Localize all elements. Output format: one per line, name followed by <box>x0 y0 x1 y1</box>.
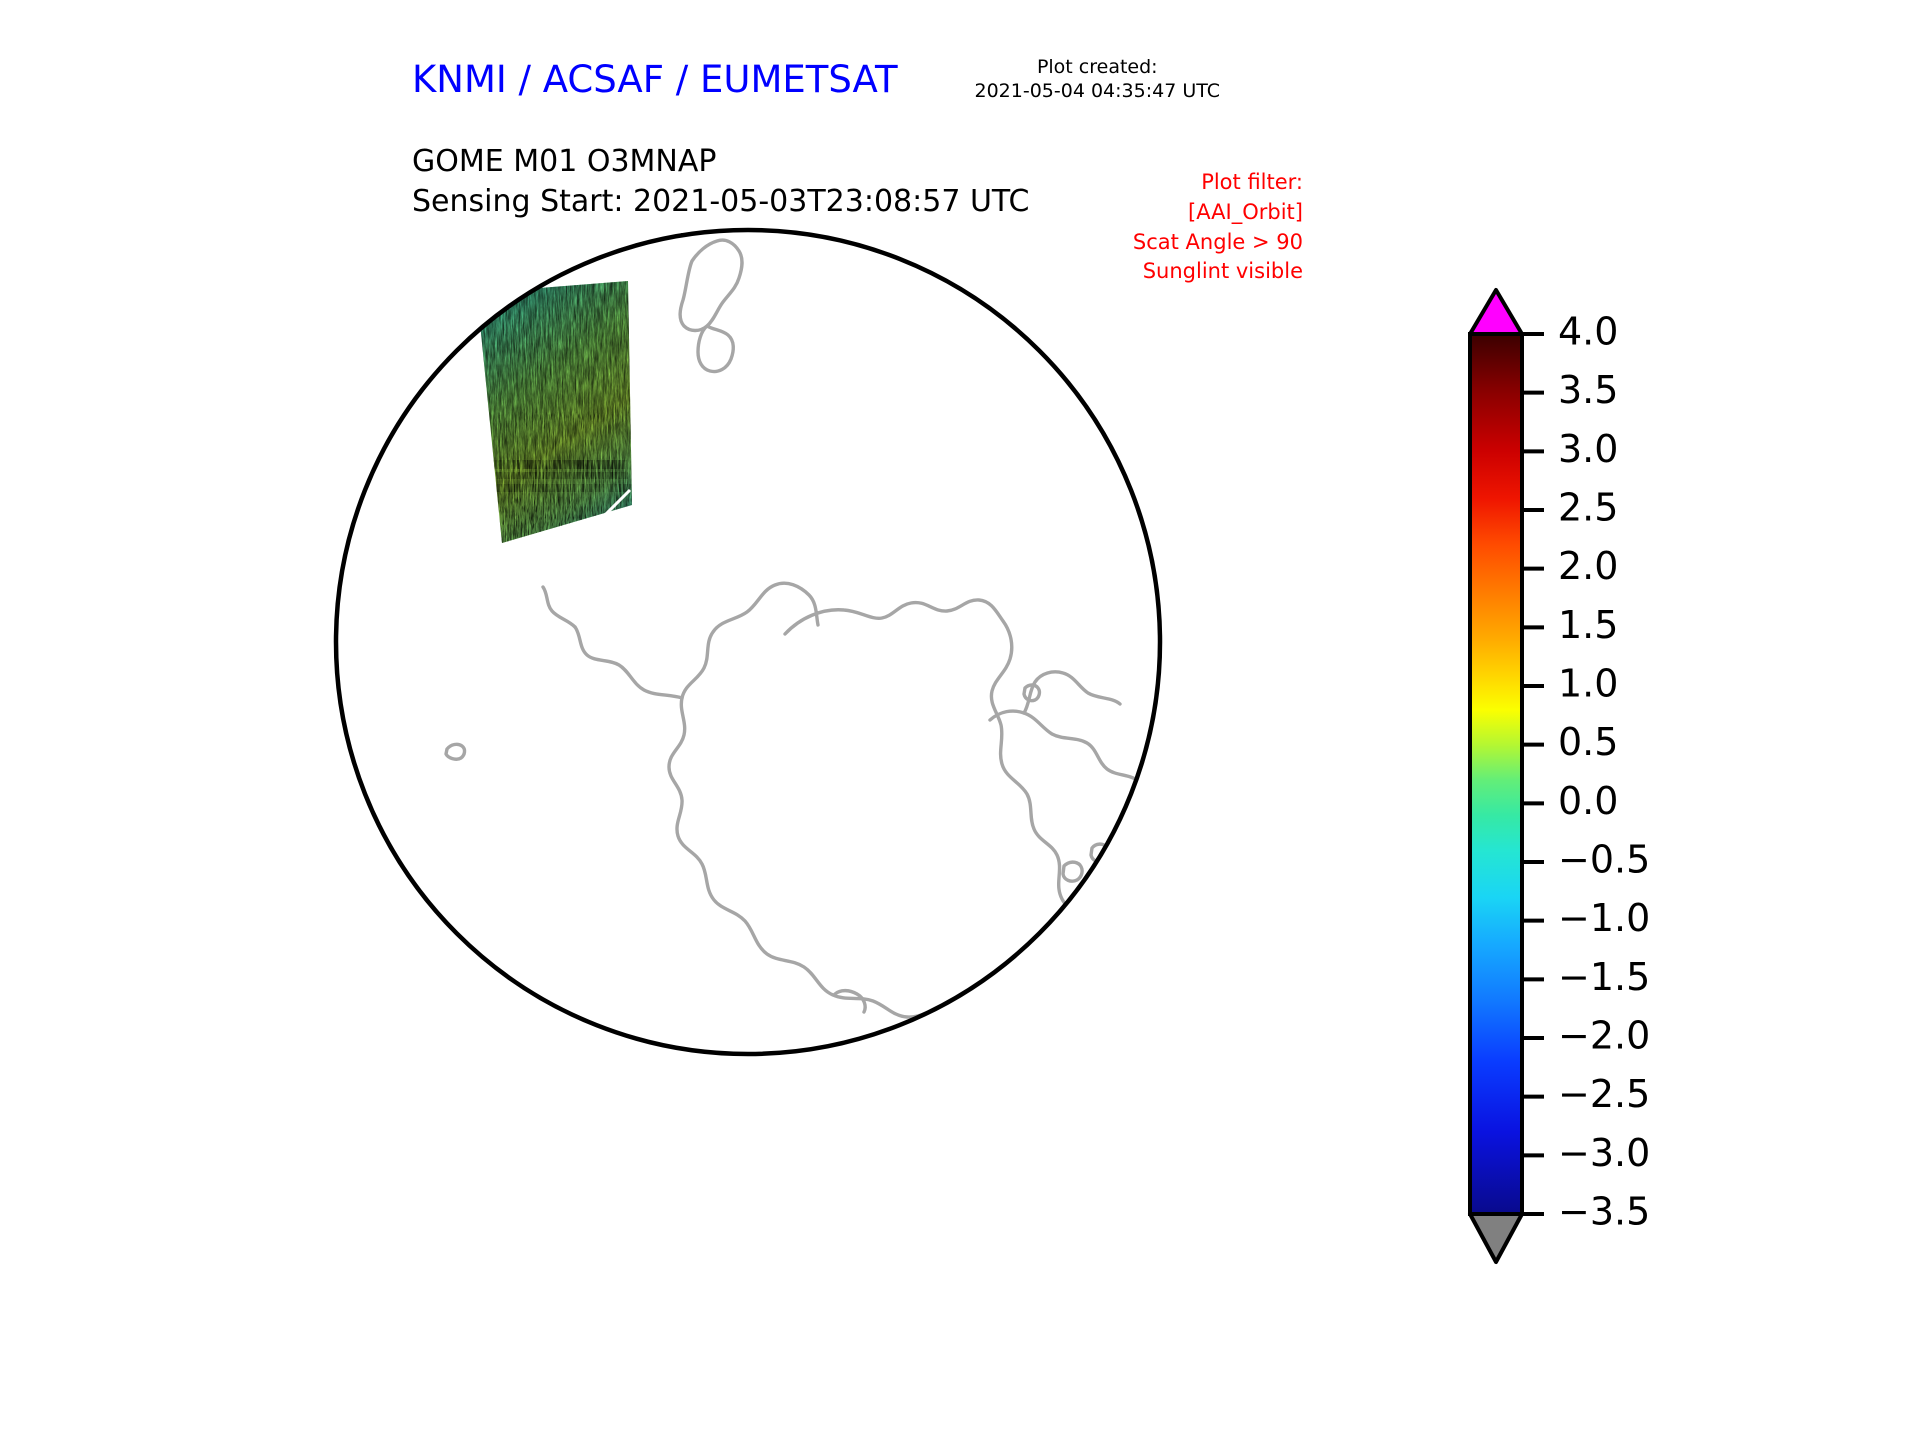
plot-created-timestamp: 2021-05-04 04:35:47 UTC <box>975 79 1221 103</box>
colorbar-tick-label: 3.5 <box>1558 368 1618 412</box>
colorbar-tick-label: −1.0 <box>1558 896 1650 940</box>
colorbar-tick-label: −2.5 <box>1558 1072 1650 1116</box>
colorbar-tick-label: 2.5 <box>1558 486 1618 530</box>
colorbar-under-range-arrow <box>1470 1214 1522 1262</box>
colorbar: 4.03.53.02.52.01.51.00.50.0−0.5−1.0−1.5−… <box>1450 282 1710 1312</box>
colorbar-tick-label: 2.0 <box>1558 544 1618 588</box>
colorbar-tick-label: 3.0 <box>1558 427 1618 471</box>
colorbar-tick-label: −0.5 <box>1558 838 1650 882</box>
map-panel <box>330 222 1170 1067</box>
plot-created-block: Plot created: 2021-05-04 04:35:47 UTC <box>975 55 1221 104</box>
globe-disc <box>336 230 1160 1054</box>
colorbar-gradient-bar <box>1470 334 1522 1214</box>
coastline-berkner-island <box>1120 876 1155 910</box>
colorbar-tick-label: 1.5 <box>1558 603 1618 647</box>
sensing-start-line: Sensing Start: 2021-05-03T23:08:57 UTC <box>412 182 1029 222</box>
organisation-title: KNMI / ACSAF / EUMETSAT <box>412 58 898 101</box>
colorbar-tick-label: 4.0 <box>1558 310 1618 354</box>
instrument-line: GOME M01 O3MNAP <box>412 142 1029 182</box>
colorbar-tick-label: 1.0 <box>1558 662 1618 706</box>
colorbar-tick-label: 0.0 <box>1558 779 1618 823</box>
colorbar-tick-label: −3.5 <box>1558 1190 1650 1234</box>
colorbar-tick-label: 0.5 <box>1558 720 1618 764</box>
colorbar-ticks: 4.03.53.02.52.01.51.00.50.0−0.5−1.0−1.5−… <box>1522 310 1650 1234</box>
colorbar-over-range-arrow <box>1470 290 1522 334</box>
colorbar-tick-label: −3.0 <box>1558 1131 1650 1175</box>
colorbar-tick-label: −1.5 <box>1558 955 1650 999</box>
plot-created-label: Plot created: <box>975 55 1221 79</box>
polar-projection-svg <box>330 222 1170 1067</box>
colorbar-tick-label: −2.0 <box>1558 1014 1650 1058</box>
instrument-block: GOME M01 O3MNAP Sensing Start: 2021-05-0… <box>412 142 1029 222</box>
colorbar-svg: 4.03.53.02.52.01.51.00.50.0−0.5−1.0−1.5−… <box>1450 282 1710 1312</box>
plot-filter-label: Plot filter: <box>1133 168 1303 198</box>
